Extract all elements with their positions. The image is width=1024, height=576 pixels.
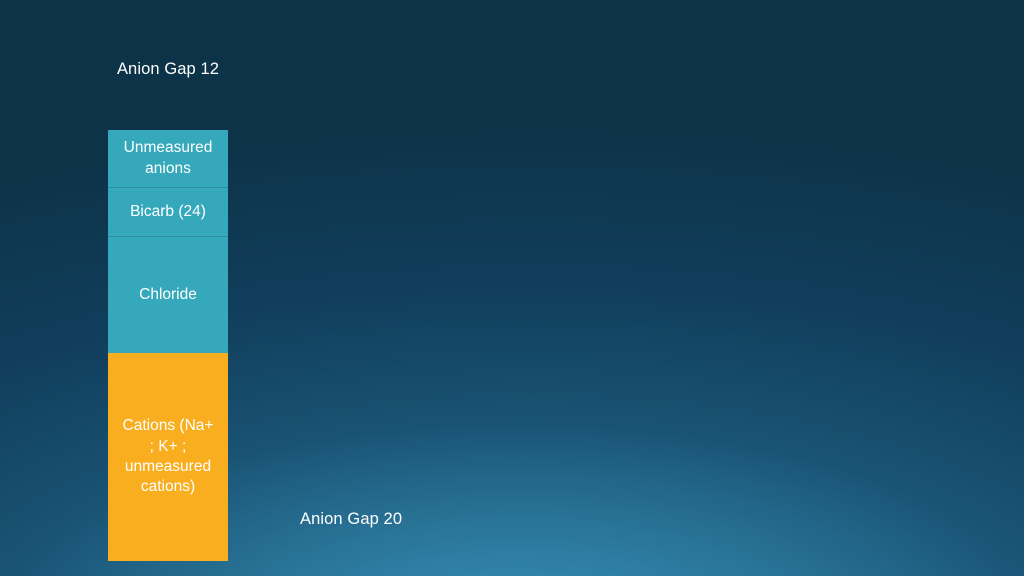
bar1-segment-bicarb: Bicarb (24) (108, 187, 228, 236)
bar1-segment-cations: Cations (Na+ ; K+ ; unmeasured cations) (108, 353, 228, 561)
column-title-1: Anion Gap 12 (108, 60, 228, 79)
bar1-segment-chloride: Chloride (108, 236, 228, 353)
slide-canvas: Anion Gap 12 Unmeasured anions Bicarb (2… (0, 0, 1024, 576)
bar1-segment-unmeasured-anions: Unmeasured anions (108, 130, 228, 187)
column-title-2: Anion Gap 20 (300, 510, 420, 529)
stacked-bar-1: Unmeasured anions Bicarb (24) Chloride C… (108, 130, 228, 561)
